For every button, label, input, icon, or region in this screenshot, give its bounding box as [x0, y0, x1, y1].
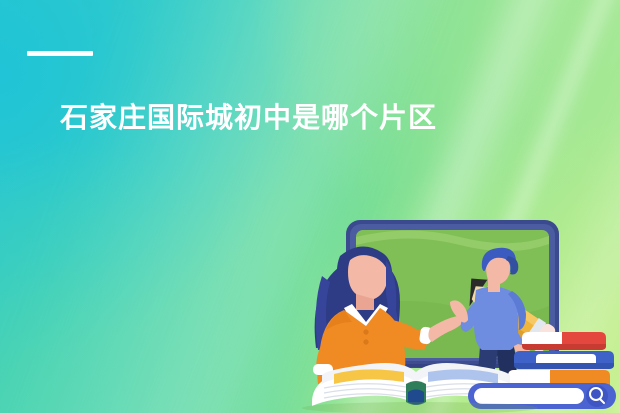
search-input[interactable]: [474, 388, 584, 404]
promo-banner: 石家庄国际城初中是哪个片区: [0, 0, 620, 413]
page-title: 石家庄国际城初中是哪个片区: [60, 101, 437, 135]
book-stack-icon: [508, 332, 614, 390]
search-icon[interactable]: [586, 385, 608, 407]
education-illustration: [300, 198, 620, 413]
accent-rule: [27, 51, 93, 56]
